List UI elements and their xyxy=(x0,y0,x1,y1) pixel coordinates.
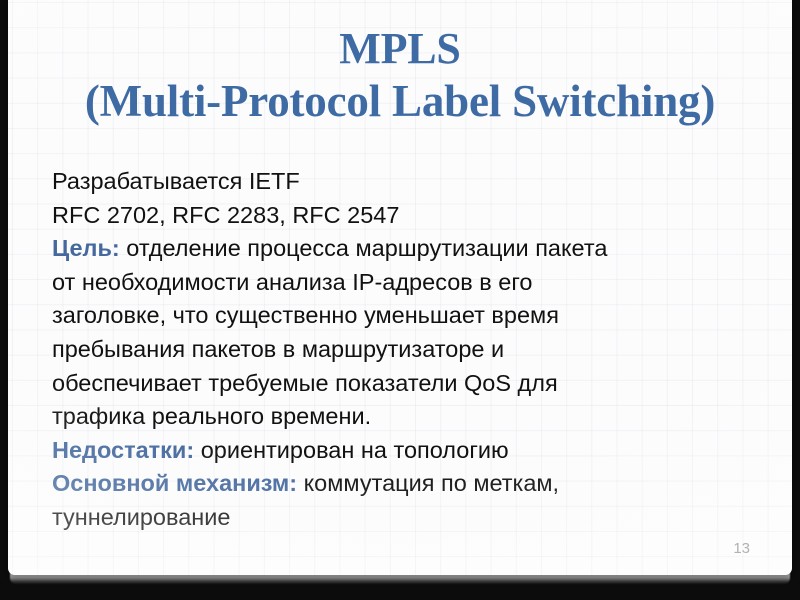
body-line: трафика реального времени. xyxy=(52,400,752,434)
body-line: заголовке, что существенно уменьшает вре… xyxy=(52,299,752,333)
body-line-lead: Недостатки: xyxy=(52,437,194,463)
body-line: Цель: отделение процесса маршрутизации п… xyxy=(52,232,752,266)
body-line-text: коммутация по меткам, xyxy=(297,470,559,496)
body-line: от необходимости анализа IP-адресов в ег… xyxy=(52,266,752,300)
body-line-text: от необходимости анализа IP-адресов в ег… xyxy=(52,269,533,295)
slide-number: 13 xyxy=(733,540,750,557)
body-line: RFC 2702, RFC 2283, RFC 2547 xyxy=(52,199,752,233)
slide-title: MPLS (Multi-Protocol Label Switching) xyxy=(8,22,792,128)
body-line-text: отделение процесса маршрутизации пакета xyxy=(120,235,608,261)
body-line-text: RFC 2702, RFC 2283, RFC 2547 xyxy=(52,202,399,228)
body-line: обеспечивает требуемые показатели QoS дл… xyxy=(52,367,752,401)
body-line-text: Разрабатывается IETF xyxy=(52,168,300,194)
body-line-text: обеспечивает требуемые показатели QoS дл… xyxy=(52,370,558,396)
body-line: пребывания пакетов в маршрутизаторе и xyxy=(52,333,752,367)
body-line: туннелирование xyxy=(52,501,752,535)
body-line-text: туннелирование xyxy=(52,504,230,530)
slide-canvas[interactable]: MPLS (Multi-Protocol Label Switching) Ра… xyxy=(8,0,792,575)
slide-title-line-1: MPLS xyxy=(8,22,792,75)
body-line-text: заголовке, что существенно уменьшает вре… xyxy=(52,302,559,328)
body-line-lead: Основной механизм: xyxy=(52,470,297,496)
slide-body-text: Разрабатывается IETF RFC 2702, RFC 2283,… xyxy=(52,165,752,535)
presentation-viewer-frame: MPLS (Multi-Protocol Label Switching) Ра… xyxy=(0,0,800,600)
body-line-text: пребывания пакетов в маршрутизаторе и xyxy=(52,336,504,362)
body-line-text: трафика реального времени. xyxy=(52,403,371,429)
body-line-text: ориентирован на топологию xyxy=(194,437,508,463)
body-line: Разрабатывается IETF xyxy=(52,165,752,199)
body-line-lead: Цель: xyxy=(52,235,120,261)
body-line: Недостатки: ориентирован на топологию xyxy=(52,434,752,468)
slide-title-line-2: (Multi-Protocol Label Switching) xyxy=(8,75,792,128)
body-line: Основной механизм: коммутация по меткам, xyxy=(52,467,752,501)
